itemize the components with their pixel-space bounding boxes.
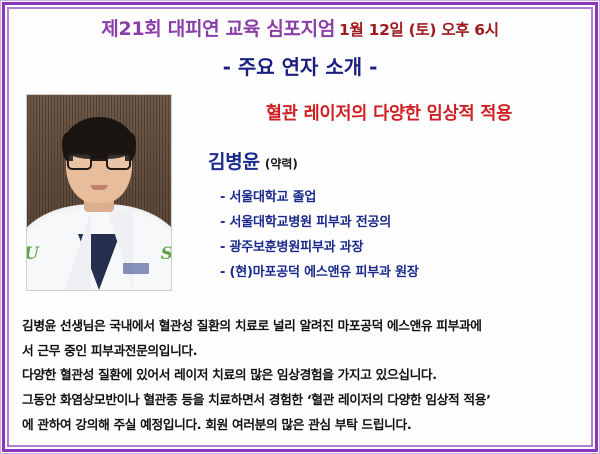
glasses-lens-left	[67, 153, 92, 170]
symposium-title: 제21회 대피연 교육 심포지엄	[101, 18, 335, 40]
glasses-bridge	[92, 159, 106, 162]
glasses-lens-right	[106, 153, 131, 170]
description-block: 김병윤 선생님은 국내에서 혈관성 질환의 치료로 널리 알려진 마포공덕 에스…	[10, 314, 590, 438]
list-item: - 서울대학교 졸업	[220, 186, 582, 211]
clinic-logo-right: S	[161, 244, 172, 264]
poster-header: 제21회 대피연 교육 심포지엄1월 12일 (토) 오후 6시 - 주요 연자…	[10, 10, 590, 80]
main-section: U S 혈관 레이저의 다양한 임상적 적용 김병윤(약력) - 서울대학교 졸…	[10, 94, 590, 306]
glasses-icon	[67, 153, 131, 170]
poster-page: 제21회 대피연 교육 심포지엄1월 12일 (토) 오후 6시 - 주요 연자…	[0, 0, 600, 454]
poster-subtitle: - 주요 연자 소개 -	[10, 51, 590, 80]
coat-lapel-right	[107, 210, 133, 290]
coat-lapel-left	[65, 210, 91, 290]
speaker-bio-list: - 서울대학교 졸업 - 서울대학교병원 피부과 전공의 - 광주보훈병원피부과…	[220, 186, 582, 286]
description-line: 다양한 혈관성 질환에 있어서 레이저 치료의 많은 임상경험을 가지고 있으십…	[22, 363, 580, 388]
coat-name-embroidery	[123, 263, 149, 274]
description-line: 그동안 화염상모반이나 혈관종 등을 치료하면서 경험한 ‘혈관 레이저의 다양…	[22, 388, 580, 413]
list-item: - (현)마포공덕 에스앤유 피부과 원장	[220, 261, 582, 286]
person-mouth	[91, 185, 108, 190]
list-item: - 서울대학교병원 피부과 전공의	[220, 211, 582, 236]
symposium-date: 1월 12일 (토) 오후 6시	[339, 21, 499, 39]
speaker-photo: U S	[26, 94, 172, 291]
speaker-name-row: 김병윤(약력)	[208, 147, 582, 174]
list-item: - 광주보훈병원피부과 과장	[220, 236, 582, 261]
speaker-name-note: (약력)	[265, 157, 298, 171]
description-line: 김병윤 선생님은 국내에서 혈관성 질환의 치료로 널리 알려진 마포공덕 에스…	[22, 314, 580, 339]
speaker-info: 혈관 레이저의 다양한 임상적 적용 김병윤(약력) - 서울대학교 졸업 - …	[196, 100, 582, 286]
poster-content: 제21회 대피연 교육 심포지엄1월 12일 (토) 오후 6시 - 주요 연자…	[10, 10, 590, 444]
description-line: 에 관하여 강의해 주실 예정입니다. 회원 여러분의 많은 관심 부탁 드립니…	[22, 413, 580, 438]
clinic-logo-left: U	[26, 244, 39, 264]
lecture-title: 혈관 레이저의 다양한 임상적 적용	[196, 100, 582, 125]
photo-person	[27, 95, 171, 290]
title-line: 제21회 대피연 교육 심포지엄1월 12일 (토) 오후 6시	[10, 18, 590, 41]
description-line: 서 근무 중인 피부과전문의입니다.	[22, 339, 580, 364]
speaker-name: 김병윤	[208, 151, 260, 173]
